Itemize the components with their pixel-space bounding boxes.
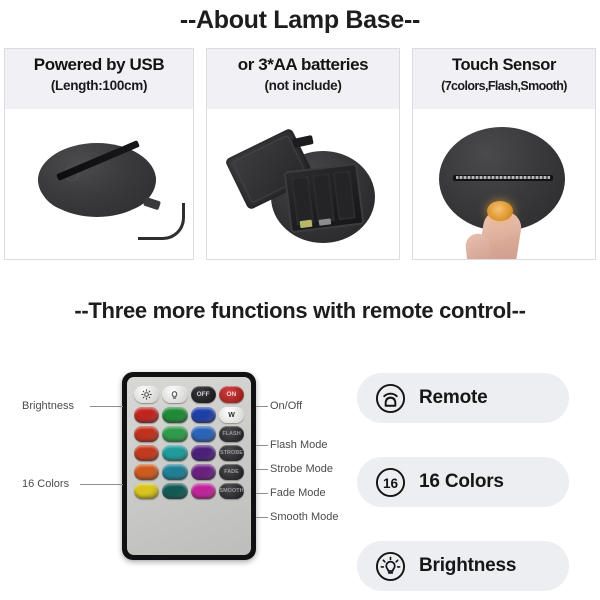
page-title-about: --About Lamp Base--	[0, 6, 600, 35]
photo-touch-sensor	[413, 109, 595, 259]
feature-pill-brightness[interactable]: Brightness	[357, 541, 569, 591]
leader-line-fade-mode	[256, 493, 268, 494]
feature-pill-16-colors[interactable]: 16 16 Colors	[357, 457, 569, 507]
battery-slot	[291, 176, 314, 226]
battery-slot	[333, 171, 356, 221]
remote-control-image: OFF ON W FL	[122, 372, 256, 560]
leader-line-16-colors	[80, 484, 123, 485]
remote-smooth-button[interactable]: SMOOTH	[219, 483, 244, 499]
leader-line-strobe-mode	[256, 469, 268, 470]
remote-on-button[interactable]: ON	[219, 386, 244, 403]
color-swatch[interactable]	[162, 464, 187, 480]
usb-cable	[138, 203, 185, 240]
callout-on-off: On/Off	[270, 400, 302, 412]
remote-top-button-row: OFF ON	[134, 386, 244, 403]
callout-brightness: Brightness	[22, 400, 74, 412]
panel-title-touch: Touch Sensor	[413, 54, 595, 76]
photo-usb-lamp-base	[5, 109, 193, 259]
battery-tray	[283, 163, 364, 234]
touch-base-image	[439, 127, 574, 257]
remote-keypad: W FLASH STROBE FADE SMOOTH	[134, 407, 244, 499]
callout-fade-mode: Fade Mode	[270, 487, 326, 499]
color-swatch[interactable]	[134, 483, 159, 499]
color-swatch[interactable]	[191, 407, 216, 423]
color-swatch[interactable]	[191, 445, 216, 461]
callout-flash-mode: Flash Mode	[270, 439, 327, 451]
remote-strobe-button[interactable]: STROBE	[219, 445, 244, 461]
panel-group: Powered by USB (Length:100cm) or 3*AA ba…	[0, 48, 600, 260]
color-swatch[interactable]	[134, 445, 159, 461]
panel-title-battery: or 3*AA batteries	[207, 54, 399, 76]
color-swatch[interactable]	[162, 426, 187, 442]
color-swatch[interactable]	[191, 483, 216, 499]
remote-flash-button[interactable]: FLASH	[219, 426, 244, 442]
color-swatch[interactable]	[191, 426, 216, 442]
color-swatch[interactable]	[134, 426, 159, 442]
brightness-bulb-icon	[375, 551, 406, 582]
lamp-base-usb-image	[32, 137, 167, 242]
panel-subtitle-usb: (Length:100cm)	[5, 76, 193, 96]
color-swatch[interactable]	[162, 445, 187, 461]
leader-line-flash-mode	[256, 445, 268, 446]
remote-face: OFF ON W FL	[127, 377, 251, 555]
panel-subtitle-battery: (not include)	[207, 76, 399, 96]
feature-label-brightness: Brightness	[419, 555, 516, 577]
feature-pill-remote[interactable]: Remote	[357, 373, 569, 423]
panel-aa-batteries: or 3*AA batteries (not include)	[206, 48, 400, 260]
color-swatch[interactable]	[162, 483, 187, 499]
panel-title-usb: Powered by USB	[5, 54, 193, 76]
svg-text:16: 16	[383, 475, 399, 490]
panel-powered-by-usb: Powered by USB (Length:100cm)	[4, 48, 194, 260]
color-swatch[interactable]	[134, 407, 159, 423]
feature-label-remote: Remote	[419, 387, 487, 409]
panel-touch-sensor: Touch Sensor (7colors,Flash,Smooth)	[412, 48, 596, 260]
callout-strobe-mode: Strobe Mode	[270, 463, 333, 475]
touch-sensor-spot	[487, 201, 513, 221]
color-swatch[interactable]	[134, 464, 159, 480]
remote-white-button[interactable]: W	[219, 407, 244, 423]
color-swatch[interactable]	[191, 464, 216, 480]
leader-line-on-off	[256, 406, 268, 407]
remote-fade-button[interactable]: FADE	[219, 464, 244, 480]
acrylic-slot	[453, 175, 553, 181]
remote-signal-icon	[375, 383, 406, 414]
battery-base-image	[231, 131, 381, 249]
remote-brightness-down-button[interactable]	[162, 386, 187, 403]
photo-battery-compartment	[207, 109, 399, 259]
remote-brightness-up-button[interactable]	[134, 386, 159, 403]
remote-color-grid	[134, 407, 216, 499]
callout-smooth-mode: Smooth Mode	[270, 511, 338, 523]
callout-16-colors: 16 Colors	[22, 478, 69, 490]
panel-subtitle-touch: (7colors,Flash,Smooth)	[413, 76, 595, 96]
brightness-down-icon	[169, 389, 180, 400]
panel-header-touch: Touch Sensor (7colors,Flash,Smooth)	[413, 49, 595, 109]
panel-header-battery: or 3*AA batteries (not include)	[207, 49, 399, 109]
color-swatch[interactable]	[162, 407, 187, 423]
leader-line-brightness	[90, 406, 123, 407]
remote-mode-column: W FLASH STROBE FADE SMOOTH	[219, 407, 244, 499]
feature-label-16-colors: 16 Colors	[419, 471, 504, 493]
battery-slot	[312, 173, 335, 223]
leader-line-smooth-mode	[256, 517, 268, 518]
battery-spring	[319, 218, 332, 225]
page-title-functions: --Three more functions with remote contr…	[0, 298, 600, 324]
brightness-up-icon	[141, 389, 152, 400]
remote-off-button[interactable]: OFF	[191, 386, 216, 403]
panel-header-usb: Powered by USB (Length:100cm)	[5, 49, 193, 109]
battery-contact	[300, 220, 313, 228]
sixteen-circle-icon: 16	[375, 467, 406, 498]
